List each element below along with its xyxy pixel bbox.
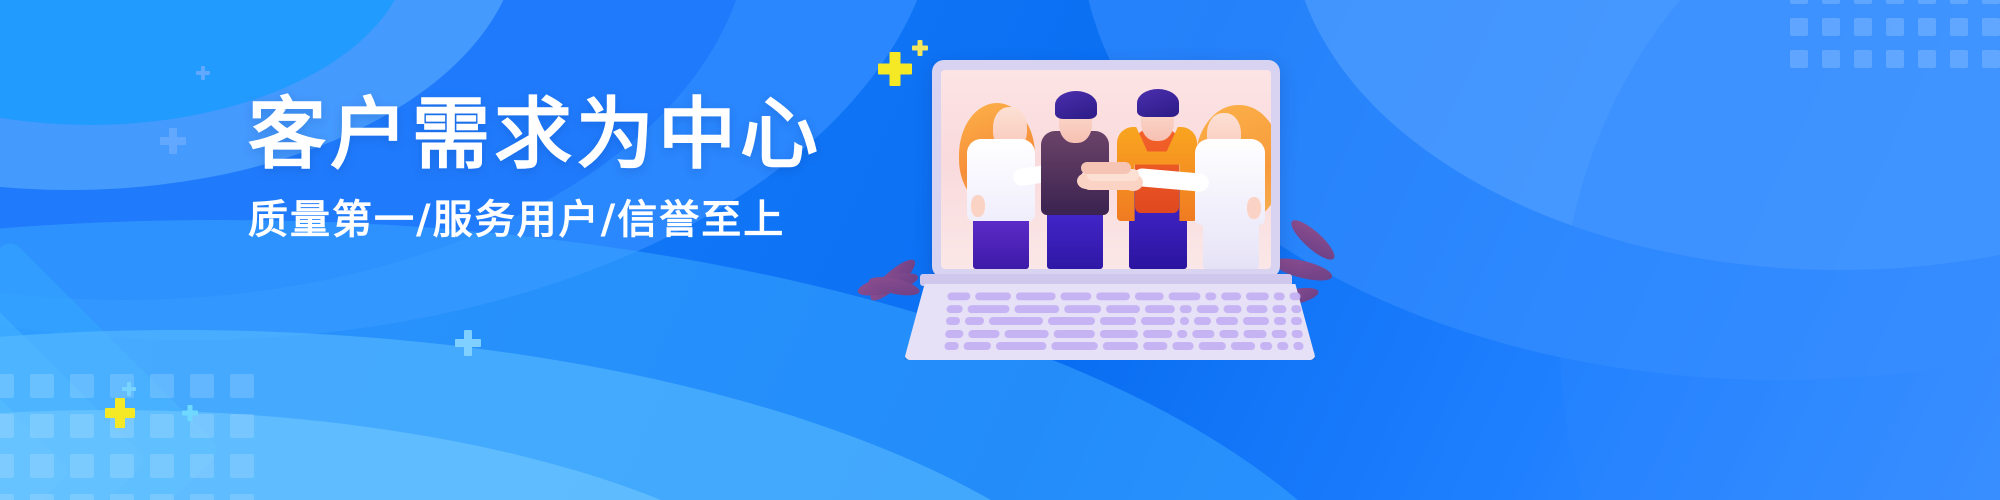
grid-dot bbox=[110, 454, 134, 478]
keyboard-key bbox=[1291, 317, 1302, 325]
grid-dot bbox=[150, 494, 174, 500]
grid-dot bbox=[1886, 18, 1904, 36]
keyboard-key bbox=[944, 342, 959, 350]
banner-copy: 客户需求为中心 质量第一/服务用户/信誉至上 bbox=[248, 96, 808, 240]
keyboard-key bbox=[945, 329, 964, 337]
keyboard-row bbox=[945, 329, 1303, 337]
keyboard-key bbox=[1272, 305, 1286, 313]
laptop-keyboard bbox=[944, 292, 1303, 350]
grid-dot bbox=[110, 374, 134, 398]
person-hand bbox=[971, 195, 985, 217]
keyboard-key bbox=[1064, 305, 1101, 313]
keyboard-key bbox=[1259, 342, 1272, 350]
keyboard-key bbox=[964, 342, 992, 350]
keyboard-row bbox=[944, 342, 1303, 350]
keyboard-key bbox=[1053, 329, 1094, 337]
grid-dot bbox=[1950, 0, 1968, 4]
keyboard-key bbox=[989, 317, 1042, 325]
person-woman-right bbox=[1185, 93, 1271, 269]
grid-dot bbox=[0, 374, 14, 398]
plus-icon bbox=[196, 66, 210, 80]
keyboard-key bbox=[1141, 317, 1175, 325]
keyboard-key bbox=[1246, 292, 1269, 300]
keyboard-key bbox=[1169, 292, 1201, 300]
page-title: 客户需求为中心 bbox=[248, 96, 808, 174]
grid-dot bbox=[70, 374, 94, 398]
keyboard-key bbox=[1197, 305, 1219, 313]
person-hand bbox=[1247, 197, 1261, 219]
keyboard-key bbox=[1294, 342, 1304, 350]
keyboard-key bbox=[1106, 305, 1140, 313]
keyboard-key bbox=[1291, 305, 1302, 313]
grid-dot bbox=[1886, 50, 1904, 68]
keyboard-key bbox=[996, 342, 1046, 350]
keyboard-key bbox=[1143, 342, 1167, 350]
grid-dot bbox=[190, 374, 214, 398]
keyboard-key bbox=[1274, 292, 1285, 300]
grid-dot bbox=[1886, 0, 1904, 4]
keyboard-key bbox=[1277, 342, 1289, 350]
grid-dot bbox=[70, 454, 94, 478]
keyboard-key bbox=[1224, 305, 1242, 313]
grid-dot bbox=[190, 414, 214, 438]
grid-dot bbox=[0, 494, 14, 500]
keyboard-row bbox=[946, 305, 1301, 313]
person-hair bbox=[1055, 91, 1097, 119]
grid-dot bbox=[70, 414, 94, 438]
keyboard-key bbox=[1290, 292, 1301, 300]
keyboard-key bbox=[964, 317, 984, 325]
grid-dot bbox=[1918, 50, 1936, 68]
grid-dot bbox=[230, 414, 254, 438]
keyboard-key bbox=[1230, 342, 1254, 350]
grid-dot bbox=[150, 454, 174, 478]
keyboard-key bbox=[968, 305, 1010, 313]
keyboard-key bbox=[1143, 329, 1172, 337]
grid-dot bbox=[1822, 18, 1840, 36]
laptop-screen bbox=[941, 70, 1271, 269]
laptop-illustration bbox=[920, 60, 1300, 360]
keyboard-key bbox=[1096, 292, 1130, 300]
grid-dot bbox=[1918, 0, 1936, 4]
keyboard-key bbox=[1135, 292, 1164, 300]
keyboard-row bbox=[946, 317, 1302, 325]
grid-dot bbox=[70, 494, 94, 500]
keyboard-key bbox=[1244, 329, 1267, 337]
grid-dot bbox=[1854, 50, 1872, 68]
grid-dot bbox=[1790, 0, 1808, 4]
grid-dot bbox=[190, 454, 214, 478]
plus-icon bbox=[878, 52, 912, 86]
grid-dot bbox=[230, 454, 254, 478]
grid-dot bbox=[150, 374, 174, 398]
keyboard-key bbox=[1180, 305, 1192, 313]
grid-dot bbox=[30, 454, 54, 478]
grid-dot bbox=[1950, 50, 1968, 68]
keyboard-key bbox=[1048, 317, 1095, 325]
keyboard-key bbox=[1272, 329, 1288, 337]
keyboard-key bbox=[1172, 342, 1193, 350]
keyboard-key bbox=[946, 305, 963, 313]
grid-dot bbox=[1982, 18, 2000, 36]
grid-dot bbox=[0, 454, 14, 478]
grid-dot bbox=[230, 494, 254, 500]
keyboard-key bbox=[1193, 329, 1215, 337]
grid-dot bbox=[1918, 18, 1936, 36]
grid-dot bbox=[1982, 50, 2000, 68]
plus-icon bbox=[160, 128, 186, 154]
keyboard-key bbox=[1247, 305, 1268, 313]
grid-bottom-left bbox=[0, 374, 254, 500]
keyboard-key bbox=[1292, 329, 1303, 337]
keyboard-key bbox=[1100, 329, 1138, 337]
wave-shape bbox=[1560, 0, 2000, 500]
laptop-lid bbox=[932, 60, 1280, 278]
banner-subtitle: 质量第一/服务用户/信誉至上 bbox=[248, 200, 808, 240]
grid-dot bbox=[230, 374, 254, 398]
keyboard-key bbox=[1194, 317, 1211, 325]
grid-dot bbox=[30, 494, 54, 500]
keyboard-key bbox=[1180, 317, 1189, 325]
grid-dot bbox=[1950, 18, 1968, 36]
keyboard-key bbox=[1051, 342, 1098, 350]
leaf-icon bbox=[1286, 215, 1339, 265]
grid-dot bbox=[1854, 18, 1872, 36]
plus-icon bbox=[455, 330, 481, 356]
grid-dot bbox=[1982, 0, 2000, 4]
keyboard-key bbox=[1274, 317, 1287, 325]
keyboard-key bbox=[1243, 317, 1269, 325]
keyboard-key bbox=[1145, 305, 1175, 313]
grid-dot bbox=[1854, 0, 1872, 4]
plus-icon bbox=[912, 40, 928, 56]
grid-dot bbox=[0, 414, 14, 438]
keyboard-key bbox=[1215, 317, 1238, 325]
grid-dot bbox=[30, 374, 54, 398]
marketing-banner: 客户需求为中心 质量第一/服务用户/信誉至上 bbox=[0, 0, 2000, 500]
person-hair bbox=[1137, 89, 1179, 117]
keyboard-key bbox=[1100, 317, 1137, 325]
keyboard-row bbox=[947, 292, 1301, 300]
keyboard-key bbox=[1060, 292, 1091, 300]
keyboard-key bbox=[1221, 292, 1241, 300]
grid-dot bbox=[150, 414, 174, 438]
grid-top-right bbox=[1790, 0, 2000, 68]
grid-dot bbox=[190, 494, 214, 500]
keyboard-key bbox=[1004, 329, 1049, 337]
keyboard-key bbox=[1177, 329, 1188, 337]
grid-dot bbox=[30, 414, 54, 438]
grid-dot bbox=[1790, 50, 1808, 68]
keyboard-key bbox=[1014, 305, 1059, 313]
grid-dot bbox=[1822, 0, 1840, 4]
stacked-hands bbox=[1081, 161, 1145, 195]
grid-dot bbox=[1790, 18, 1808, 36]
keyboard-key bbox=[1103, 342, 1138, 350]
keyboard-key bbox=[1219, 329, 1239, 337]
keyboard-key bbox=[1206, 292, 1217, 300]
keyboard-key bbox=[968, 329, 999, 337]
keyboard-key bbox=[1198, 342, 1226, 350]
keyboard-key bbox=[946, 317, 960, 325]
keyboard-key bbox=[947, 292, 970, 300]
grid-dot bbox=[110, 494, 134, 500]
keyboard-key bbox=[1015, 292, 1055, 300]
grid-dot bbox=[110, 414, 134, 438]
grid-dot bbox=[1822, 50, 1840, 68]
keyboard-key bbox=[975, 292, 1011, 300]
